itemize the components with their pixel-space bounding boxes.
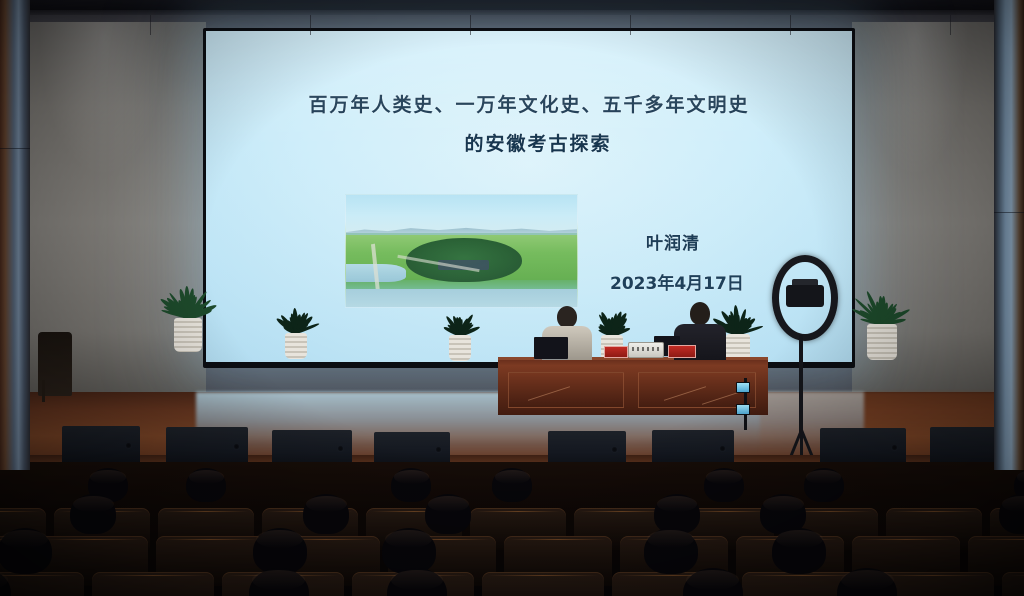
stage-monitor-speaker <box>166 427 248 465</box>
stage-monitor-speaker <box>374 432 450 466</box>
ceiling <box>0 0 1024 10</box>
ring-light-pole <box>799 335 803 435</box>
presenters-table <box>498 357 768 415</box>
speaker-right-head <box>690 302 710 325</box>
audience-member-silhouette <box>70 494 116 534</box>
potted-palm <box>276 305 316 359</box>
smartphone-tripod-rig <box>735 378 751 430</box>
laptop-left <box>534 337 568 359</box>
photo-sky <box>346 195 577 233</box>
planter-pot <box>174 318 202 352</box>
audience-row <box>0 574 1024 596</box>
audience-area <box>0 462 1024 596</box>
table-shine <box>664 386 706 401</box>
desktop-microphone-unit <box>628 342 664 358</box>
monitor-port <box>337 445 344 452</box>
slide-presentation-date: 2023年4月17日 <box>610 269 744 294</box>
speaker-left-head <box>557 306 577 328</box>
audience-member-silhouette <box>999 494 1024 534</box>
potted-palm <box>440 307 480 361</box>
palm-leaves <box>592 305 632 335</box>
phone-screen-upper <box>736 382 750 393</box>
monitor-port <box>125 442 132 449</box>
monitor-port <box>435 446 442 453</box>
wall-seam <box>470 15 471 35</box>
slide-presenter-name: 叶润清 <box>646 229 700 254</box>
stage-monitor-speaker <box>62 426 140 464</box>
audience-member-silhouette <box>772 528 826 574</box>
name-placard-left <box>604 346 628 358</box>
wall-seam <box>790 15 791 35</box>
planter-pot <box>867 324 897 360</box>
phone-screen-lower <box>736 404 750 415</box>
audience-member-silhouette <box>425 494 471 534</box>
side-chair <box>38 332 72 396</box>
slide-title-line-1: 百万年人类史、一万年文化史、五千多年文明史 <box>206 90 852 117</box>
potted-palm <box>858 286 906 360</box>
stage-monitor-speaker <box>652 430 734 466</box>
audience-member-silhouette <box>382 528 436 574</box>
ring-light-mount <box>786 285 824 307</box>
palm-leaves <box>276 305 316 333</box>
table-panel-left <box>508 372 624 408</box>
stage-monitor-speaker <box>272 430 352 466</box>
monitor-port <box>719 445 726 452</box>
monitor-port <box>611 446 618 453</box>
photo-river <box>346 289 577 307</box>
slide-title-line-2: 的安徽考古探索 <box>206 129 852 156</box>
wall-seam <box>150 15 151 35</box>
stage-monitor-speaker <box>820 428 906 466</box>
potted-palm <box>165 282 211 352</box>
table-shine <box>528 386 570 401</box>
auditorium-scene: 百万年人类史、一万年文化史、五千多年文明史 的安徽考古探索 叶润清 2023年4… <box>0 0 1024 596</box>
palm-leaves <box>165 282 211 318</box>
wall-seam <box>630 15 631 35</box>
name-placard-right <box>668 345 696 358</box>
audience-member-silhouette <box>0 528 52 574</box>
monitor-port <box>233 443 240 450</box>
side-column-left <box>0 0 30 470</box>
palm-leaves <box>858 286 906 324</box>
wall-seam <box>310 15 311 35</box>
planter-pot <box>449 335 471 361</box>
stage-monitor-speaker <box>548 431 626 466</box>
mic-grill <box>632 347 660 351</box>
monitor-port <box>891 444 898 451</box>
ring-light <box>772 255 838 341</box>
audience-member-silhouette <box>644 528 698 574</box>
palm-leaves <box>440 307 480 335</box>
side-column-right <box>994 0 1024 470</box>
wall-seam <box>950 15 951 35</box>
audience-member-silhouette <box>303 494 349 534</box>
slide-photo-aerial-site <box>345 194 578 308</box>
planter-pot <box>285 333 307 359</box>
